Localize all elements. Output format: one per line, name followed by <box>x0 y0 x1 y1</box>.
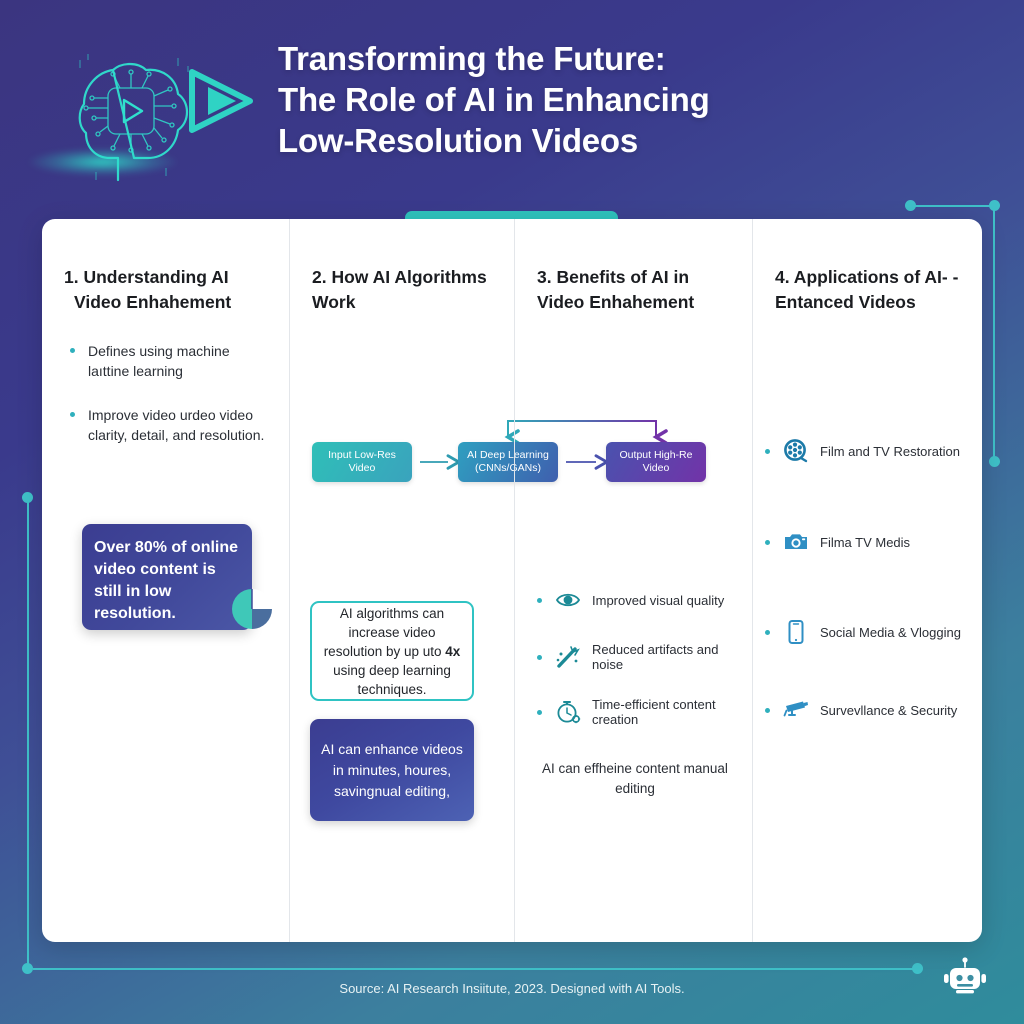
highlight-box-solid: AI can enhance videos in minutes, houres… <box>310 719 474 821</box>
deco-dot-right-bottom <box>989 456 1000 467</box>
list-item-label: Reduced artifacts and noise <box>592 642 752 672</box>
list-item-label: Social Media & Vlogging <box>820 625 961 640</box>
bullet-dot <box>765 630 770 635</box>
title-line-2: The Role of AI in Enhancing <box>278 79 898 120</box>
film-reel-icon <box>783 438 809 464</box>
list-item-label: Improved visual quality <box>592 593 724 608</box>
magic-wand-icon <box>555 644 581 670</box>
list-item-film-tv-restoration: Film and TV Restoration <box>765 438 960 464</box>
header: Transforming the Future: The Role of AI … <box>0 0 1024 212</box>
list-item: Defines using machine laıttine learning <box>64 341 267 381</box>
list-item-label: Filma TV Medis <box>820 535 910 550</box>
smartphone-icon <box>783 619 809 645</box>
bullet-dot <box>765 708 770 713</box>
column-3-title: 3. Benefits of AI in Video Enhahement <box>537 265 730 315</box>
title-line-3: Low-Resolution Videos <box>278 120 898 161</box>
column-2-title: 2. How AI Algorithms Work <box>312 265 492 315</box>
bullet-dot <box>765 540 770 545</box>
stat-card-text: Over 80% of online video content is stil… <box>94 539 238 622</box>
list-item-label: Film and TV Restoration <box>820 444 960 459</box>
list-item-film-tv-media: Filma TV Medis <box>765 529 910 555</box>
highlight-prefix: AI algorithms can increase video resolut… <box>324 606 446 659</box>
bullet-dot <box>537 710 542 715</box>
robot-head-icon <box>942 956 988 1002</box>
deco-dot-left-bottom <box>22 963 33 974</box>
column-1-bullets: Defines using machine laıttine learning … <box>64 341 267 445</box>
eye-icon <box>555 587 581 613</box>
list-item-time-efficient: Time-efficient content creation <box>537 697 752 727</box>
column-3-note: AI can effheine content manual editing <box>535 759 735 799</box>
bullet-dot <box>537 655 542 660</box>
highlight-suffix: using deep learning techniques. <box>333 663 451 697</box>
column-4-title: 4. Applications of AI- -Entanced Videos <box>775 265 960 315</box>
content-card: 1. Understanding AI Video Enhahement Def… <box>42 219 982 942</box>
flow-box-input: Input Low-Res Video <box>312 442 412 482</box>
list-item-improved-quality: Improved visual quality <box>537 587 724 613</box>
list-item-reduced-artifacts: Reduced artifacts and noise <box>537 642 752 672</box>
list-item-social-media-vlogging: Social Media & Vlogging <box>765 619 961 645</box>
footer-source: Source: AI Research Insiitute, 2023. Des… <box>0 981 1024 996</box>
highlight-emphasis: 4x <box>445 644 460 659</box>
list-item-surveillance-security: Survevllance & Security <box>765 697 957 723</box>
column-understanding-ai: 1. Understanding AI Video Enhahement Def… <box>42 219 289 942</box>
column-benefits: 3. Benefits of AI in Video Enhahement Im… <box>514 219 752 942</box>
column-how-ai-works: 2. How AI Algorithms Work <box>289 219 514 942</box>
stat-card: Over 80% of online video content is stil… <box>82 524 252 630</box>
bullet-dot <box>765 449 770 454</box>
deco-dot-bottom-right <box>912 963 923 974</box>
camera-icon <box>783 529 809 555</box>
title-line-1: Transforming the Future: <box>278 38 898 79</box>
page-title: Transforming the Future: The Role of AI … <box>278 38 898 161</box>
deco-line-left <box>27 497 29 968</box>
list-item-label: Survevllance & Security <box>820 703 957 718</box>
cctv-camera-icon <box>783 697 809 723</box>
play-triangle-icon <box>180 62 260 142</box>
bullet-dot <box>537 598 542 603</box>
deco-line-bottom-left <box>33 968 918 970</box>
list-item: Improve video urdeo video clarity, detai… <box>64 405 267 445</box>
stopwatch-icon <box>555 699 581 725</box>
column-1-title: 1. Understanding AI Video Enhahement <box>64 265 267 315</box>
list-item-label: Time-efficient content creation <box>592 697 752 727</box>
highlight-box-outline: AI algorithms can increase video resolut… <box>310 601 474 701</box>
deco-line-right <box>993 205 995 463</box>
pie-chart-icon <box>226 583 278 642</box>
column-applications: 4. Applications of AI- -Entanced Videos … <box>752 219 982 942</box>
